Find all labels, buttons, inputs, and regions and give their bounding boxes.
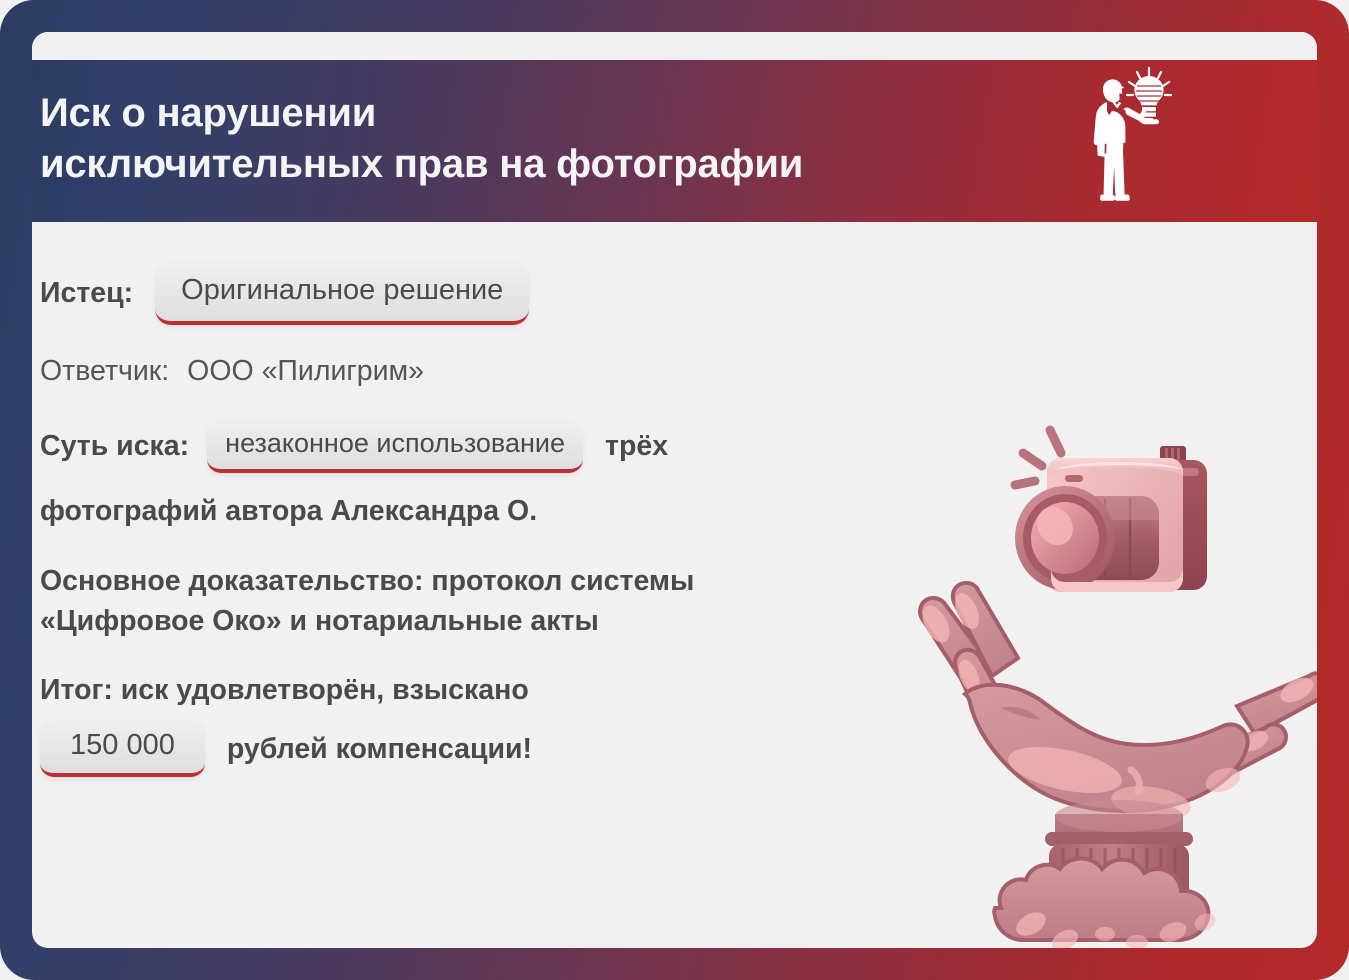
plaintiff-value-chip[interactable]: Оригинальное решение (155, 262, 529, 325)
open-hand-icon (917, 583, 1317, 824)
card-top-spacer (32, 32, 1317, 60)
content-card: Иск о нарушении исключительных прав на ф… (32, 32, 1317, 948)
claim-label: Суть иска: (40, 432, 189, 461)
page-title: Иск о нарушении исключительных прав на ф… (40, 88, 1040, 190)
defendant-value: ООО «Пилигрим» (187, 357, 424, 386)
result-row: Итог: иск удовлетворён, взыскано (40, 676, 880, 705)
result-text: Итог: иск удовлетворён, взыскано (40, 676, 529, 705)
evidence-text: Основное доказательство: протокол систем… (40, 565, 694, 637)
claim-value-chip[interactable]: незаконное использование (207, 420, 583, 473)
defendant-row: Ответчик: ООО «Пилигрим» (40, 357, 880, 386)
plaintiff-label: Истец: (40, 279, 133, 308)
amount-after-chip-text: рублей компенсации! (227, 735, 532, 764)
claim-second-line-row: фотографий автора Александра О. (40, 497, 880, 526)
evidence-row: Основное доказательство: протокол систем… (40, 561, 880, 642)
camera-on-hand-illustration (905, 408, 1317, 948)
screenshot-root: Иск о нарушении исключительных прав на ф… (0, 0, 1349, 980)
claim-second-line: фотографий автора Александра О. (40, 497, 537, 526)
plaintiff-row: Истец: Оригинальное решение (40, 262, 880, 325)
claim-after-chip-text: трёх (605, 432, 668, 461)
claim-row: Суть иска: незаконное использование трёх (40, 420, 880, 473)
case-summary: Истец: Оригинальное решение Ответчик: ОО… (40, 254, 880, 777)
businessman-with-lightbulb-icon (1071, 62, 1191, 220)
defendant-label: Ответчик: (40, 357, 169, 386)
amount-row: 150 000 рублей компенсации! (40, 720, 880, 777)
compensation-amount-chip[interactable]: 150 000 (40, 720, 205, 777)
header-band: Иск о нарушении исключительных прав на ф… (32, 60, 1317, 222)
